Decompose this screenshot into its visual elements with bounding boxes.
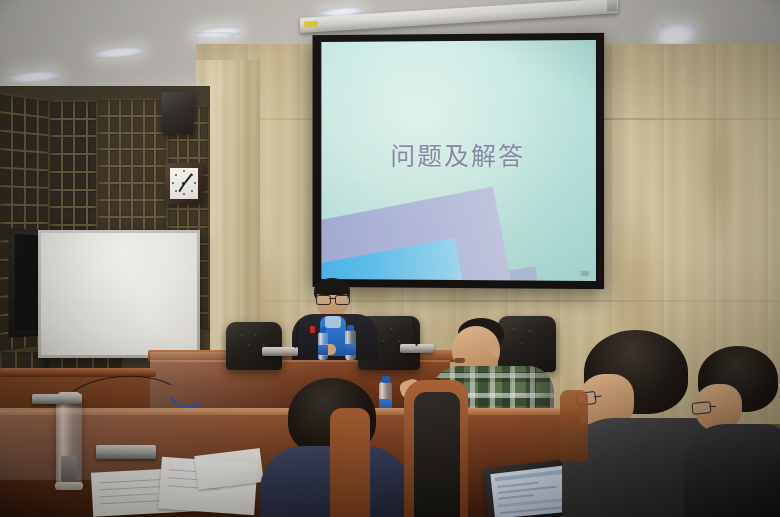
person-presenter: [292, 278, 378, 358]
delegate-console: [96, 445, 156, 459]
delegate-console: [32, 394, 82, 404]
projected-slide: 问题及解答: [321, 40, 596, 281]
ceiling-light: [10, 70, 59, 84]
bottle-infuser: [61, 456, 77, 484]
conference-room-photo: 问题及解答: [0, 0, 780, 517]
housing-end-cap: [607, 0, 617, 12]
water-bottle: [345, 330, 356, 360]
clock-center-pin: [182, 182, 185, 185]
clock-face: [170, 168, 198, 199]
housing-warning-label: [304, 21, 318, 28]
wall-clock: [165, 163, 203, 204]
chair-cushion: [414, 392, 460, 517]
water-bottle: [318, 332, 328, 360]
presenter-badge: [310, 326, 315, 333]
projection-screen: 问题及解答: [313, 33, 605, 289]
delegate-console: [262, 347, 298, 356]
ceiling-light: [655, 24, 696, 46]
screen-brand-mark: [581, 271, 589, 276]
person-attendee-far-right: [690, 346, 780, 517]
presenter-glasses: [316, 295, 349, 304]
wall-mounted-speaker: [162, 92, 194, 135]
attendee-far-right-coat: [684, 424, 780, 517]
wooden-chair-back: [330, 408, 370, 517]
wooden-chair-back: [560, 390, 588, 462]
bottle-base: [55, 482, 83, 490]
whiteboard-surface: [41, 233, 197, 355]
ceiling-light: [194, 32, 234, 39]
questioner-mouth: [454, 358, 465, 363]
questioner-ear: [490, 344, 500, 357]
whiteboard: [38, 230, 200, 358]
attendee-far-right-glasses: [692, 402, 728, 413]
ceiling-light: [96, 46, 143, 59]
slide-title: 问题及解答: [321, 136, 596, 172]
executive-chair: [226, 322, 282, 370]
